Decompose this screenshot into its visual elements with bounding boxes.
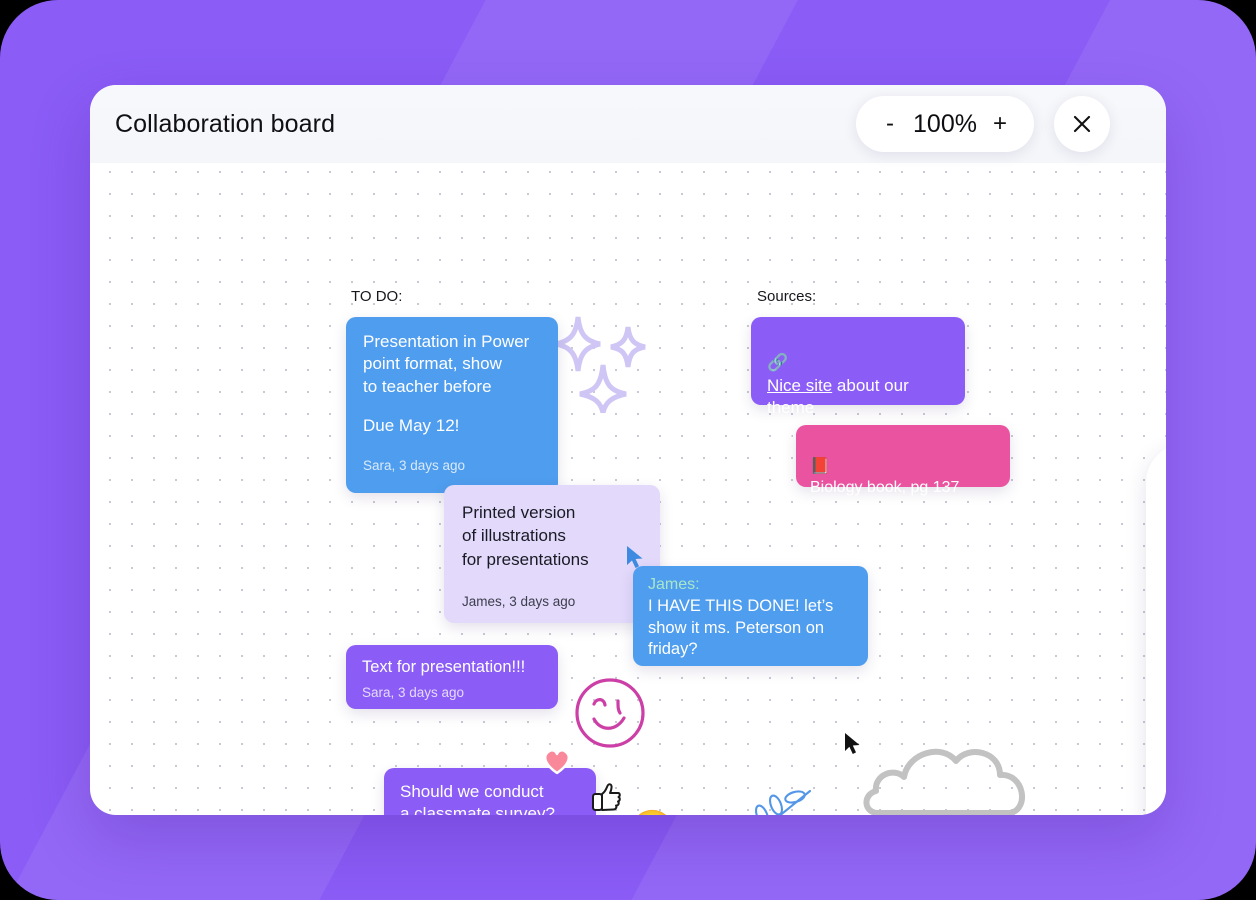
note-meta: James, 3 days ago	[462, 594, 642, 609]
page-title: Collaboration board	[115, 110, 335, 139]
sticky-note-survey[interactable]: Should we conduct a classmate survey? Ja…	[384, 768, 596, 815]
page-background: Collaboration board - 100% + TO DO: Sour…	[0, 0, 1256, 900]
source-link[interactable]: Nice site	[767, 376, 832, 395]
sticky-note-tool-button[interactable]	[1160, 728, 1166, 780]
sticky-note-printed-version[interactable]: Printed version of illustrations for pre…	[444, 485, 660, 623]
chat-message-bubble[interactable]: James: I HAVE THIS DONE! let’s show it m…	[633, 566, 868, 666]
source-note-nice-site[interactable]: 🔗 Nice site about our theme James, 3 day…	[751, 317, 965, 405]
note-due-date: Due May 12!	[363, 416, 541, 436]
color-swatch-button[interactable]	[1160, 794, 1166, 815]
link-icon: 🔗	[767, 353, 788, 372]
source-text: Biology book, pg 137	[810, 479, 959, 496]
text-tool-button[interactable]	[1160, 530, 1166, 582]
zoom-in-button[interactable]: +	[982, 106, 1018, 142]
zoom-control-group: - 100% +	[856, 96, 1034, 152]
book-icon: 📕	[810, 458, 830, 475]
note-text: Should we conduct a classmate survey?	[400, 781, 580, 815]
collaboration-board-window: Collaboration board - 100% + TO DO: Sour…	[90, 85, 1166, 815]
note-meta: Sara, 3 days ago	[363, 458, 541, 473]
zoom-level-value: 100%	[908, 110, 982, 139]
chat-message-text: I HAVE THIS DONE! let’s show it ms. Pete…	[648, 596, 853, 661]
tool-palette	[1146, 443, 1166, 815]
note-meta: Sara, 3 days ago	[362, 685, 542, 700]
note-text: Text for presentation!!!	[362, 657, 542, 679]
sticky-note-text-for-presentation[interactable]: Text for presentation!!! Sara, 3 days ag…	[346, 645, 558, 709]
brush-tool-button[interactable]	[1160, 662, 1166, 714]
column-label-sources: Sources:	[757, 288, 816, 305]
column-label-todo: TO DO:	[351, 288, 402, 305]
source-note-biology-book[interactable]: 📕 Biology book, pg 137 Sara, 2 days ago	[796, 425, 1010, 487]
sticky-note-presentation[interactable]: Presentation in Power point format, show…	[346, 317, 558, 493]
close-icon	[1071, 113, 1093, 135]
comment-tool-button[interactable]	[1160, 464, 1166, 516]
arrow-tool-button[interactable]	[1160, 596, 1166, 648]
close-button[interactable]	[1054, 96, 1110, 152]
note-meta: Sara, 2 days ago	[810, 500, 996, 515]
note-text: Presentation in Power point format, show…	[363, 331, 541, 398]
board-header: Collaboration board - 100% +	[90, 85, 1166, 163]
chat-author: James:	[648, 575, 853, 596]
zoom-out-button[interactable]: -	[872, 106, 908, 142]
note-text: Printed version of illustrations for pre…	[462, 501, 642, 571]
